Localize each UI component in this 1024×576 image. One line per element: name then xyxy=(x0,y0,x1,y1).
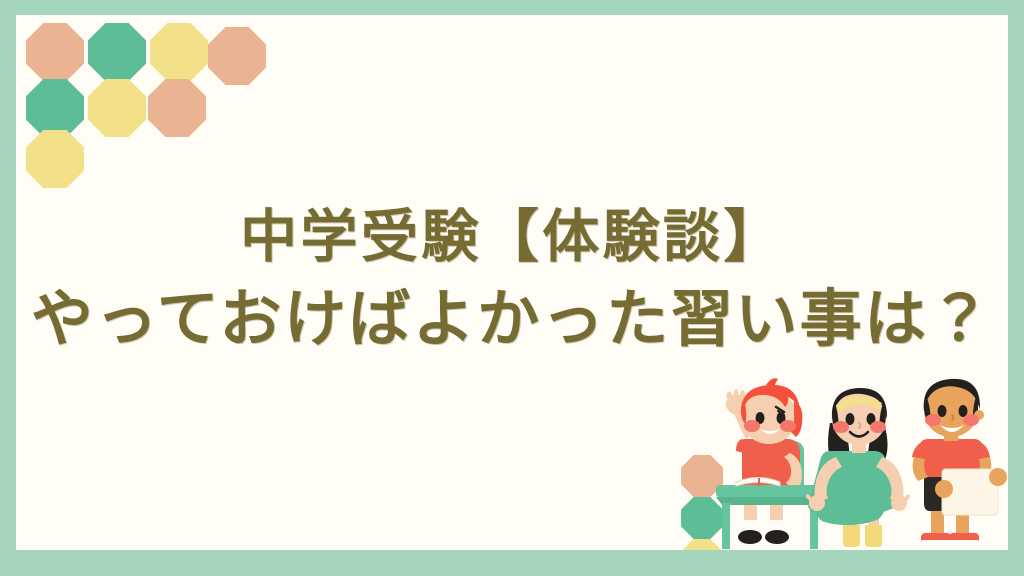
hex-r1c4 xyxy=(208,27,266,85)
hex-r2c1 xyxy=(26,79,84,137)
page-title: 中学受験【体験談】 やっておけばよかった習い事は？ xyxy=(16,201,1008,359)
hex-r1c1 xyxy=(26,23,84,81)
hex-r1c3 xyxy=(150,23,208,81)
title-line-2: やっておけばよかった習い事は？ xyxy=(16,279,1008,359)
child-girl-green-dress xyxy=(806,388,910,547)
thumbnail-canvas: 中学受験【体験談】 やっておけばよかった習い事は？ xyxy=(0,0,1024,576)
hex-r2c2 xyxy=(88,79,146,137)
hex-r3c1 xyxy=(26,130,84,188)
children-illustration xyxy=(678,377,1008,562)
inner-panel: 中学受験【体験談】 やっておけばよかった習い事は？ xyxy=(16,15,1008,562)
title-line-1: 中学受験【体験談】 xyxy=(16,201,1008,273)
child-boy-raising-hand xyxy=(726,378,804,544)
child-boy-holding-paper xyxy=(912,379,1007,545)
hex-r1c2 xyxy=(88,23,146,81)
hex-r2c3 xyxy=(148,79,206,137)
